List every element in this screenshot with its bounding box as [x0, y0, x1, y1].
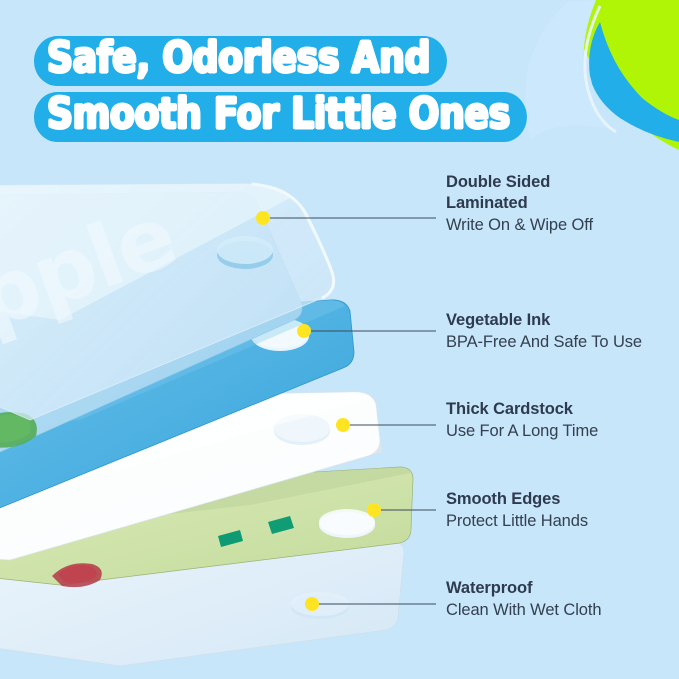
feature-vegetable-ink: Vegetable Ink BPA-Free And Safe To Use	[446, 310, 679, 353]
feature-title-line2: Laminated	[446, 193, 679, 214]
connector-dot	[336, 418, 350, 432]
feature-subtitle: BPA-Free And Safe To Use	[446, 332, 679, 353]
feature-title: Thick Cardstock	[446, 399, 679, 420]
feature-subtitle: Protect Little Hands	[446, 511, 679, 532]
connector-smooth-edges	[367, 503, 436, 517]
feature-subtitle: Write On & Wipe Off	[446, 215, 679, 236]
connector-dot	[367, 503, 381, 517]
feature-waterproof: Waterproof Clean With Wet Cloth	[446, 578, 679, 621]
feature-title: Waterproof	[446, 578, 679, 599]
feature-title: Double Sided	[446, 172, 679, 193]
feature-title: Vegetable Ink	[446, 310, 679, 331]
feature-title: Smooth Edges	[446, 489, 679, 510]
feature-smooth-edges: Smooth Edges Protect Little Hands	[446, 489, 679, 532]
connector-waterproof	[305, 597, 436, 611]
infographic-canvas: pple Safe, Odorless And Smooth For Littl…	[0, 0, 679, 679]
feature-double-sided-laminated: Double Sided Laminated Write On & Wipe O…	[446, 172, 679, 236]
connector-dot	[297, 324, 311, 338]
connector-vegetable-ink	[297, 324, 436, 338]
connector-double-sided-laminated	[256, 211, 436, 225]
feature-thick-cardstock: Thick Cardstock Use For A Long Time	[446, 399, 679, 442]
feature-subtitle: Clean With Wet Cloth	[446, 600, 679, 621]
connector-thick-cardstock	[336, 418, 436, 432]
connector-dot	[305, 597, 319, 611]
feature-subtitle: Use For A Long Time	[446, 421, 679, 442]
connector-dot	[256, 211, 270, 225]
